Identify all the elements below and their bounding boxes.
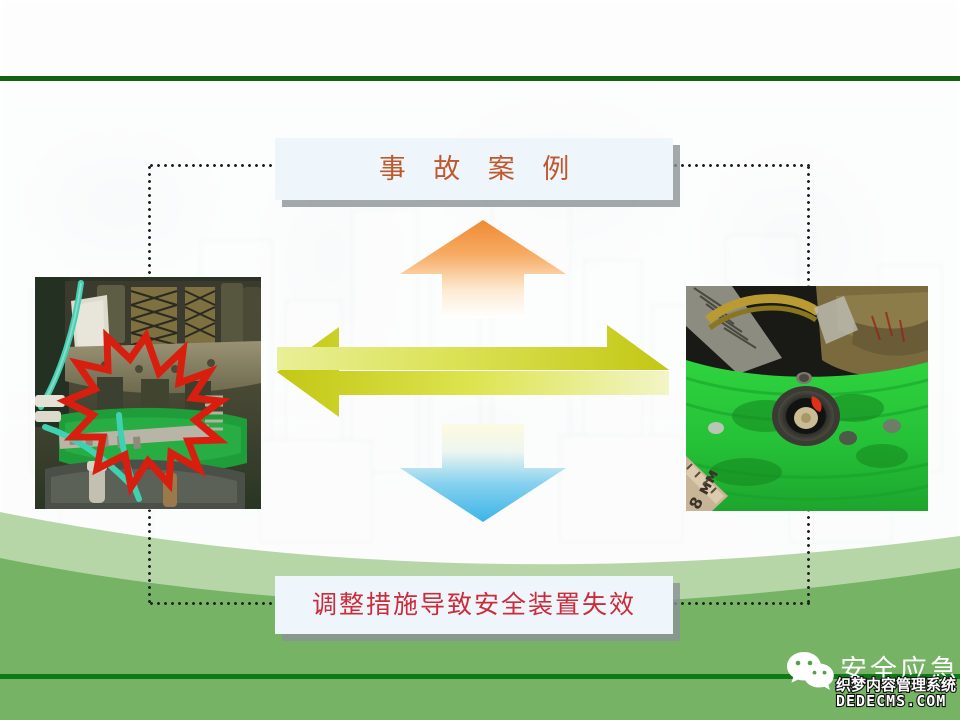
title-callout-box[interactable]: 事 故 案 例 [275, 138, 673, 200]
connector-line-bottom-right [672, 602, 810, 605]
arrow-double-horizontal-icon [277, 325, 669, 417]
arrow-down-icon [398, 424, 568, 524]
green-machine-part-photo[interactable]: 8 мм [685, 285, 929, 512]
connector-line-bottom [148, 602, 276, 605]
accident-machine-photo[interactable] [34, 276, 262, 510]
caption-callout-box[interactable]: 调整措施导致安全装置失效 [275, 576, 673, 634]
arrow-up-icon [398, 218, 568, 318]
watermark-line-2: DEDECMS.COM [836, 694, 960, 710]
watermark: 织梦内容管理系统 DEDECMS.COM [836, 678, 960, 710]
wechat-icon [786, 650, 834, 692]
caption-text: 调整措施导致安全装置失效 [312, 590, 636, 620]
page-title: 事 故 案 例 [369, 153, 580, 185]
connector-line-top [148, 164, 276, 167]
top-divider-rule [0, 76, 960, 81]
slide-canvas: 8 мм 事 故 案 例 [0, 0, 960, 720]
connector-line-top-right [672, 164, 810, 167]
